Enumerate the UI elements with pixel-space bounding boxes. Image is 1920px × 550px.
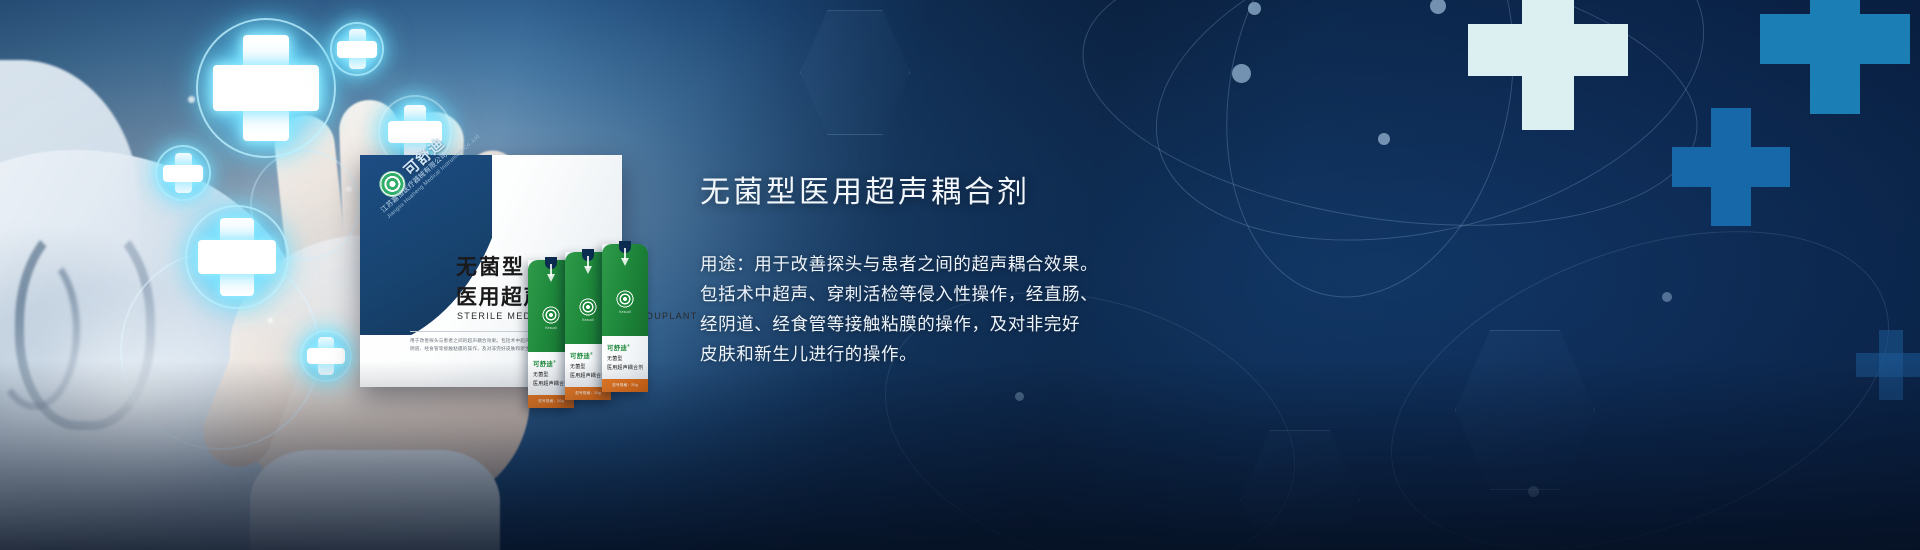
description-block: 用途：用于改善探头与患者之间的超声耦合效果。 包括术中超声、穿刺活检等侵入性操作… — [700, 249, 1220, 369]
cross-icon-pale-large — [1468, 0, 1628, 130]
cross-icon-glow-medium — [185, 205, 289, 309]
cross-icon-glow-small — [330, 22, 384, 76]
sachet-swirl-caption: Kesudi — [619, 310, 631, 314]
sparkle — [268, 318, 273, 323]
bottom-fade — [0, 360, 1920, 550]
tear-arrow-icon — [547, 274, 555, 282]
tear-arrow-icon — [621, 258, 629, 266]
orbit-node-dot — [1662, 292, 1672, 302]
cross-icon-glow-large — [196, 18, 336, 158]
description-line: 经阴道、经食管等接触粘膜的操作，及对非完好 — [700, 309, 1220, 339]
box-title-line1: 无菌型 — [456, 251, 525, 281]
banner-copy: 无菌型医用超声耦合剂 用途：用于改善探头与患者之间的超声耦合效果。 包括术中超声… — [700, 175, 1220, 369]
sachet-swirl-caption: Kesudi — [545, 326, 557, 330]
sachet-brand: 可舒迪® — [607, 343, 630, 352]
sachet-top: Kesudi — [602, 244, 648, 336]
sachet-brand-text: 可舒迪 — [607, 345, 627, 352]
sachet-brand-text: 可舒迪 — [570, 353, 590, 360]
cross-icon-glow-small — [155, 145, 211, 201]
orbit-node-dot — [1378, 133, 1390, 145]
description-line: 用途：用于改善探头与患者之间的超声耦合效果。 — [700, 249, 1220, 279]
description-line: 包括术中超声、穿刺活检等侵入性操作，经直肠、 — [700, 279, 1220, 309]
cross-icon-blue-medium — [1672, 108, 1790, 226]
sparkle — [188, 96, 195, 103]
orbit-node-dot — [1232, 64, 1251, 83]
page-title: 无菌型医用超声耦合剂 — [700, 175, 1220, 211]
swirl-logo-icon — [579, 298, 597, 316]
cross-icon-blue-large — [1760, 0, 1910, 114]
sparkle — [346, 186, 352, 192]
swirl-logo-icon — [616, 290, 634, 308]
orbit-node-dot — [1248, 2, 1261, 15]
swirl-logo-icon — [542, 306, 560, 324]
sachet-swirl-caption: Kesudi — [582, 318, 594, 322]
product-banner: 可舒迪 江苏嘉恒医疗器械有限公司 Jiangsu Huaheng Medical… — [0, 0, 1920, 550]
sachet-brand: 可舒迪® — [570, 351, 593, 360]
tear-arrow-icon — [584, 266, 592, 274]
